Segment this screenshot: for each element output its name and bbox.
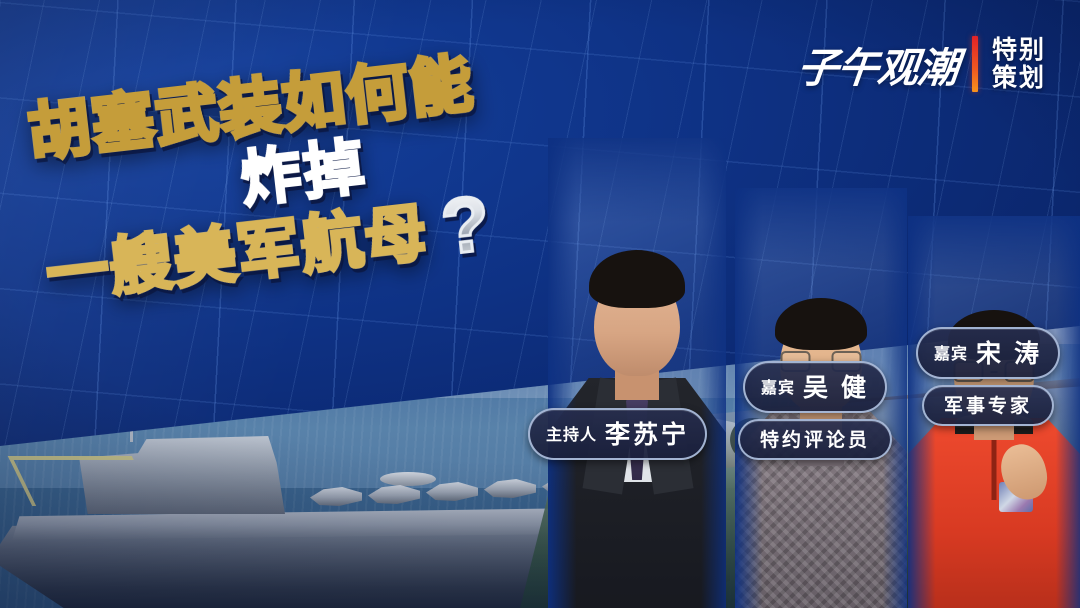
nameplate-host: 主持人 李苏宁 bbox=[528, 408, 707, 460]
nameplate-pill-primary: 嘉宾 宋 涛 bbox=[916, 327, 1060, 379]
logo-divider-bar bbox=[972, 36, 978, 92]
program-logo: 子午观潮 bbox=[795, 34, 961, 94]
nameplate-pill-primary: 主持人 李苏宁 bbox=[528, 408, 707, 460]
special-label-line-1: 特别 bbox=[992, 36, 1046, 64]
nameplate-role: 嘉宾 bbox=[934, 340, 968, 364]
nameplate-name: 吴 健 bbox=[803, 368, 869, 404]
nameplate-guest-wu-jian: 嘉宾 吴 健 特约评论员 bbox=[738, 361, 892, 460]
nameplate-pill-primary: 嘉宾 吴 健 bbox=[743, 361, 887, 413]
nameplate-guest-song-tao: 嘉宾 宋 涛 军事专家 bbox=[916, 327, 1060, 426]
special-feature-label: 特别 策划 bbox=[992, 36, 1046, 92]
headline-question-mark: ? bbox=[437, 178, 495, 274]
nameplate-role: 主持人 bbox=[546, 421, 597, 445]
headline-line-2: 炸掉 bbox=[236, 118, 371, 219]
nameplate-name: 宋 涛 bbox=[976, 334, 1042, 370]
broadcast-title-card: 子午观潮 特别 策划 胡塞武装如何能 炸掉 一艘美军航母 ? 主持人 李苏宁 嘉… bbox=[0, 0, 1080, 608]
nameplate-pill-subtitle: 军事专家 bbox=[922, 385, 1054, 426]
nameplate-pill-subtitle: 特约评论员 bbox=[738, 419, 892, 460]
nameplate-name: 李苏宁 bbox=[605, 415, 689, 451]
program-header: 子午观潮 特别 策划 bbox=[798, 34, 1046, 94]
nameplate-role: 嘉宾 bbox=[761, 374, 795, 398]
special-label-line-2: 策划 bbox=[992, 64, 1046, 92]
